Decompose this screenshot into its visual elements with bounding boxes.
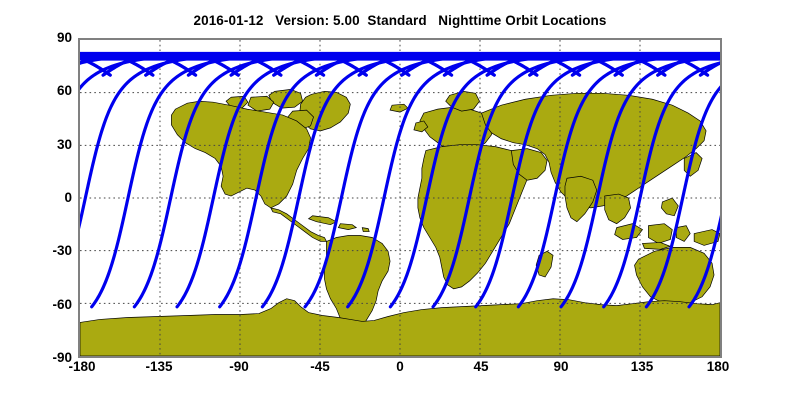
philippines-islands <box>661 198 678 216</box>
indochina-landmass <box>605 194 631 224</box>
x-tick-label--135: -135 <box>119 360 199 374</box>
hispaniola-island <box>338 224 356 230</box>
orbit-track-14 <box>80 55 213 263</box>
y-tick-label-0: 0 <box>12 191 72 205</box>
java-island <box>642 242 670 249</box>
sumatra-island <box>615 224 643 240</box>
map-plot-area <box>78 38 722 358</box>
x-tick-label--90: -90 <box>199 360 279 374</box>
x-tick-label-0: 0 <box>360 360 440 374</box>
x-tick-label--45: -45 <box>280 360 360 374</box>
y-tick-label-90: 90 <box>12 31 72 45</box>
caribbean-small-islands <box>362 228 369 232</box>
x-tick-label-45: 45 <box>441 360 521 374</box>
iceland-island <box>390 104 408 112</box>
y-tick-label--30: -30 <box>12 244 72 258</box>
victoria-island <box>248 96 274 111</box>
page-title: 2016-01-12 Version: 5.00 Standard Nightt… <box>0 13 800 28</box>
y-tick-label-60: 60 <box>12 84 72 98</box>
world-map-svg <box>80 40 720 356</box>
y-tick-label--60: -60 <box>12 298 72 312</box>
borneo-island <box>648 224 672 244</box>
x-tick-label-135: 135 <box>602 360 682 374</box>
x-tick-label-90: 90 <box>521 360 601 374</box>
x-tick-label--180: -180 <box>42 360 122 374</box>
australia-landmass <box>635 247 715 304</box>
y-tick-label-30: 30 <box>12 138 72 152</box>
orbit-map-figure: 2016-01-12 Version: 5.00 Standard Nightt… <box>0 0 800 400</box>
cuba-island <box>309 216 337 225</box>
sulawesi-island <box>676 226 690 242</box>
india-landmass <box>565 176 597 221</box>
central-america-landmass <box>271 208 327 242</box>
x-tick-label-180: 180 <box>678 360 758 374</box>
